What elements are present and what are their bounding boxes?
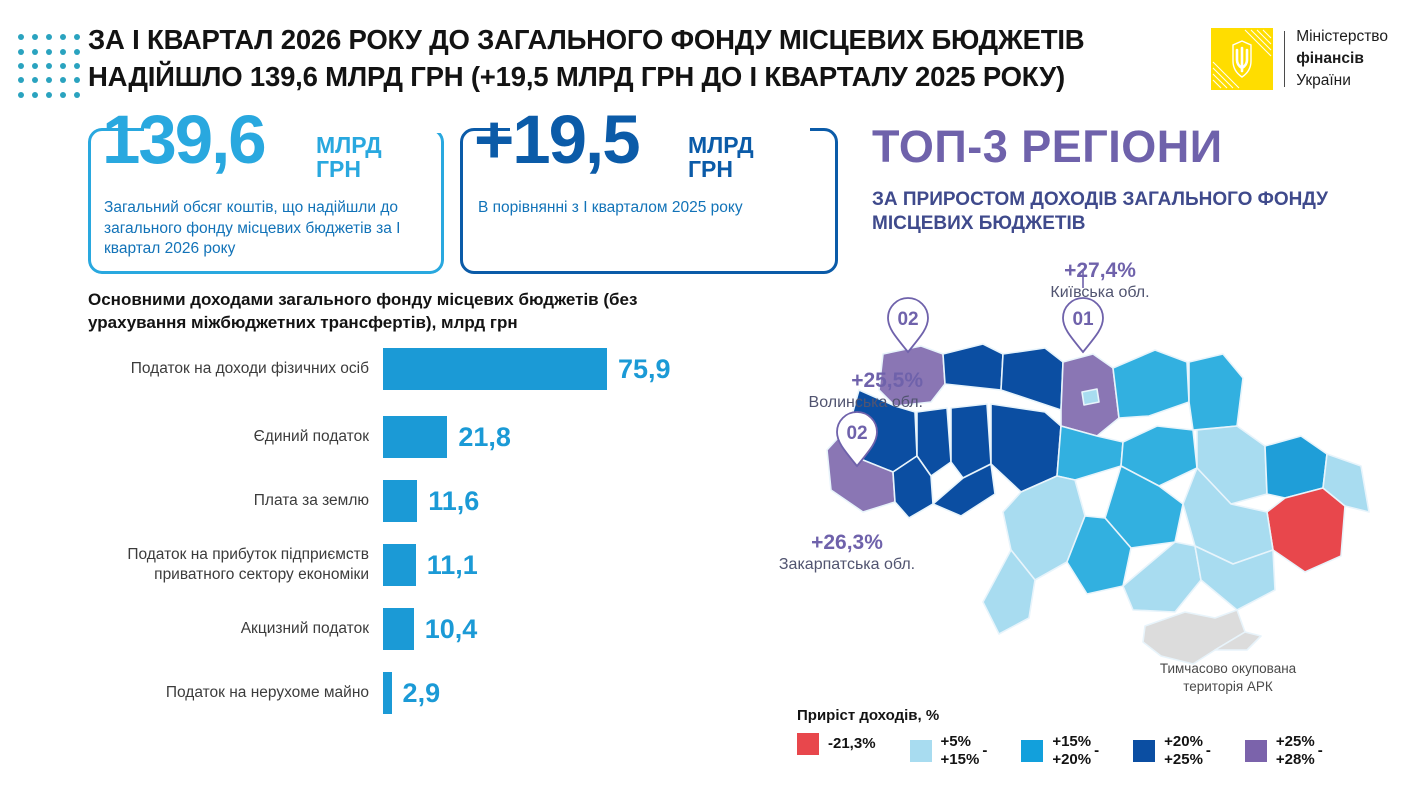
legend-color-swatch <box>1133 740 1155 762</box>
legend-range-dash: - <box>982 742 987 759</box>
legend-color-swatch <box>1021 740 1043 762</box>
bar-row: Єдиний податок21,8 <box>88 416 728 458</box>
bar-category-label: Податок на прибуток підприємств приватно… <box>88 545 383 585</box>
bar-row: Податок на нерухоме майно2,9 <box>88 672 728 714</box>
bar-row: Податок на доходи фізичних осіб75,9 <box>88 348 728 390</box>
legend-range-dash: - <box>1318 742 1323 759</box>
bar-value-label: 2,9 <box>403 678 441 709</box>
svg-text:02: 02 <box>897 309 918 330</box>
map-label-volyn: +25,5% Волинська обл. <box>748 368 923 412</box>
legend-item: +25%+28%- <box>1245 733 1323 768</box>
bar-track: 11,6 <box>383 480 479 522</box>
bar-category-label: Податок на доходи фізичних осіб <box>88 359 383 379</box>
bar-category-label: Плата за землю <box>88 491 383 511</box>
bar <box>383 544 416 586</box>
logo-divider <box>1284 31 1285 87</box>
legend-range-to: +20% <box>1052 751 1091 769</box>
bar <box>383 348 607 390</box>
legend-range-to: +28% <box>1276 751 1315 769</box>
map-label-percent: +26,3% <box>752 530 942 555</box>
map-label-zakarpattia: +26,3% Закарпатська обл. <box>752 530 942 574</box>
legend-color-swatch <box>797 733 819 755</box>
legend-range-to: +25% <box>1164 751 1203 769</box>
top3-subtitle: ЗА ПРИРОСТОМ ДОХОДІВ ЗАГАЛЬНОГО ФОНДУ МІ… <box>872 188 1352 236</box>
bar <box>383 672 392 714</box>
legend-range-from: +5% <box>941 733 980 751</box>
legend-items: -21,3%+5%+15%-+15%+20%-+20%+25%-+25%+28%… <box>797 733 1397 768</box>
legend-range: +15%+20%- <box>1052 733 1099 768</box>
bar <box>383 416 447 458</box>
ukraine-region-map: 01 02 02 <box>745 250 1410 690</box>
map-label-kyiv: +27,4% Київська обл. <box>1010 258 1190 302</box>
stat-unit-total: МЛРД ГРН <box>316 134 382 182</box>
legend-color-swatch <box>910 740 932 762</box>
ministry-of-finance-logo: Міністерство фінансів України <box>1211 26 1388 92</box>
bar-category-label: Податок на нерухоме майно <box>88 683 383 703</box>
unit-line-2: ГРН <box>688 158 754 182</box>
legend-item: +5%+15%- <box>910 733 988 768</box>
map-label-region: Закарпатська обл. <box>752 555 942 574</box>
bar-category-label: Акцизний податок <box>88 619 383 639</box>
map-label-region: Волинська обл. <box>748 393 923 412</box>
map-label-percent: +27,4% <box>1010 258 1190 283</box>
bar-value-label: 75,9 <box>618 354 671 385</box>
legend-range-dash: - <box>1206 742 1211 759</box>
page-title: ЗА I КВАРТАЛ 2026 РОКУ ДО ЗАГАЛЬНОГО ФОН… <box>88 22 1168 96</box>
legend-item: +20%+25%- <box>1133 733 1211 768</box>
stat-card-total: 139,6 МЛРД ГРН Загальний обсяг коштів, щ… <box>88 128 444 274</box>
bar-row: Акцизний податок10,4 <box>88 608 728 650</box>
crimea-note-line-2: територія АРК <box>1118 678 1338 696</box>
bar-value-label: 10,4 <box>425 614 478 645</box>
crimea-note-line-1: Тимчасово окупована <box>1118 660 1338 678</box>
bar-value-label: 21,8 <box>458 422 511 453</box>
logo-wordmark: Міністерство фінансів України <box>1296 26 1388 92</box>
bar-track: 2,9 <box>383 672 440 714</box>
svg-text:01: 01 <box>1072 309 1094 330</box>
bar-value-label: 11,1 <box>427 550 478 581</box>
unit-line-1: МЛРД <box>688 134 754 158</box>
svg-text:02: 02 <box>846 423 867 444</box>
legend-range-to: +15% <box>941 751 980 769</box>
stat-description-total: Загальний обсяг коштів, що надійшли до з… <box>104 198 434 260</box>
legend-range-from: +20% <box>1164 733 1203 751</box>
map-pin-02-volyn: 02 <box>888 298 928 352</box>
bar-row: Плата за землю11,6 <box>88 480 728 522</box>
crimea-annotation: Тимчасово окупована територія АРК <box>1118 660 1338 695</box>
infographic-page: ЗА I КВАРТАЛ 2026 РОКУ ДО ЗАГАЛЬНОГО ФОН… <box>0 0 1410 793</box>
legend-range-from: +15% <box>1052 733 1091 751</box>
stat-description-growth: В порівнянні з I кварталом 2025 року <box>478 198 818 219</box>
legend-title: Приріст доходів, % <box>797 707 1397 724</box>
bar <box>383 608 414 650</box>
stat-unit-growth: МЛРД ГРН <box>688 134 754 182</box>
decorative-dot-grid-icon <box>14 30 84 102</box>
top3-title: ТОП-3 РЕГІОНИ <box>872 124 1223 169</box>
bar <box>383 480 417 522</box>
logo-line-1: Міністерство <box>1296 26 1388 48</box>
unit-line-2: ГРН <box>316 158 382 182</box>
bar-chart: Податок на доходи фізичних осіб75,9Єдини… <box>88 348 728 714</box>
legend-color-swatch <box>1245 740 1267 762</box>
legend-range: +20%+25%- <box>1164 733 1211 768</box>
map-legend: Приріст доходів, % -21,3%+5%+15%-+15%+20… <box>797 707 1397 768</box>
logo-line-2: фінансів <box>1296 50 1364 67</box>
legend-range-from: +25% <box>1276 733 1315 751</box>
bar-value-label: 11,6 <box>428 486 479 517</box>
legend-range-dash: - <box>1094 742 1099 759</box>
bar-row: Податок на прибуток підприємств приватно… <box>88 544 728 586</box>
legend-range: +5%+15%- <box>941 733 988 768</box>
bar-category-label: Єдиний податок <box>88 427 383 447</box>
legend-value: -21,3% <box>828 735 876 753</box>
bar-track: 11,1 <box>383 544 478 586</box>
logo-line-3: України <box>1296 70 1388 92</box>
bar-track: 10,4 <box>383 608 477 650</box>
bar-track: 75,9 <box>383 348 671 390</box>
legend-item: -21,3% <box>797 733 876 755</box>
stat-value-total: 139,6 <box>102 105 265 174</box>
map-label-percent: +25,5% <box>748 368 923 393</box>
bar-track: 21,8 <box>383 416 511 458</box>
legend-item: +15%+20%- <box>1021 733 1099 768</box>
chart-title: Основними доходами загального фонду місц… <box>88 289 728 335</box>
legend-range: +25%+28%- <box>1276 733 1323 768</box>
unit-line-1: МЛРД <box>316 134 382 158</box>
map-label-region: Київська обл. <box>1010 283 1190 302</box>
trident-emblem-icon <box>1211 28 1273 90</box>
stat-value-growth: +19,5 <box>474 105 639 174</box>
